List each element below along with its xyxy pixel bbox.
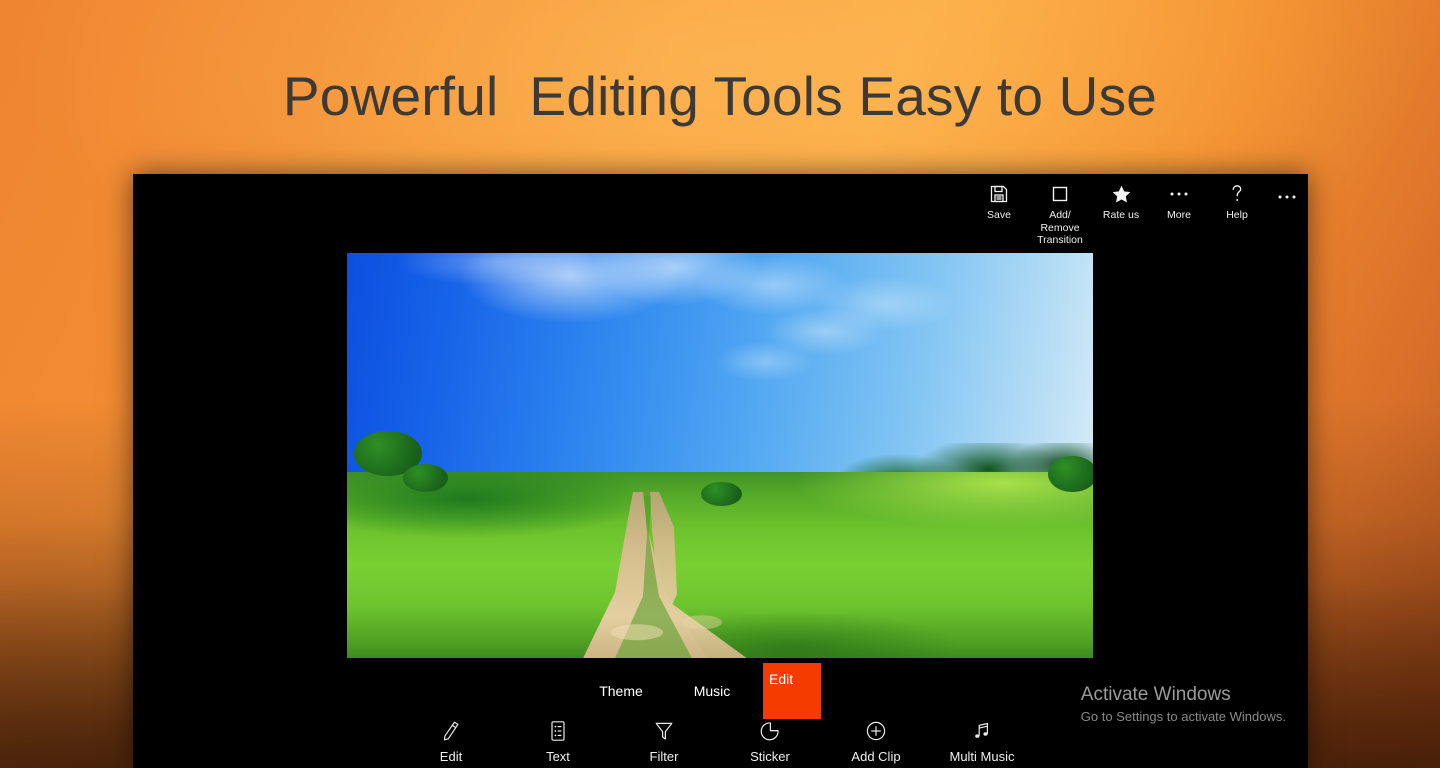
question-mark-icon <box>1227 182 1247 206</box>
plus-circle-icon <box>864 717 888 745</box>
ellipsis-icon <box>1276 188 1298 206</box>
preview-bush <box>403 464 448 492</box>
activate-windows-title: Activate Windows <box>1081 683 1286 707</box>
add-remove-transition-label: Add/ Remove Transition <box>1037 209 1083 247</box>
save-button[interactable]: Save <box>970 182 1028 222</box>
app-window: Save Add/ Remove Transition Rate us <box>133 174 1308 768</box>
more-button[interactable]: More <box>1150 182 1208 222</box>
page-title: Powerful Editing Tools Easy to Use <box>0 64 1440 128</box>
more-label: More <box>1167 209 1191 222</box>
overflow-menu-button[interactable] <box>1266 182 1308 206</box>
tool-add-clip[interactable]: Add Clip <box>833 717 919 764</box>
star-icon <box>1111 182 1132 206</box>
tool-add-clip-label: Add Clip <box>851 749 900 764</box>
ellipsis-icon <box>1168 182 1190 206</box>
tool-text-label: Text <box>546 749 570 764</box>
tool-edit[interactable]: Edit <box>408 717 494 764</box>
add-remove-transition-button[interactable]: Add/ Remove Transition <box>1028 182 1092 247</box>
tool-sticker[interactable]: Sticker <box>727 717 813 764</box>
tool-sticker-label: Sticker <box>750 749 790 764</box>
tab-music-label: Music <box>694 683 731 699</box>
text-document-icon <box>546 717 570 745</box>
tool-multi-music[interactable]: Multi Music <box>939 717 1025 764</box>
tool-filter-label: Filter <box>650 749 679 764</box>
tool-edit-label: Edit <box>440 749 462 764</box>
video-preview[interactable] <box>347 253 1093 658</box>
tab-theme-label: Theme <box>599 683 643 699</box>
funnel-icon <box>652 717 676 745</box>
help-button[interactable]: Help <box>1208 182 1266 222</box>
sticker-peel-icon <box>758 717 782 745</box>
command-bar: Save Add/ Remove Transition Rate us <box>133 174 1308 248</box>
tab-edit-label: Edit <box>769 671 793 687</box>
rate-us-button[interactable]: Rate us <box>1092 182 1150 222</box>
tool-multi-music-label: Multi Music <box>949 749 1014 764</box>
tool-text[interactable]: Text <box>515 717 601 764</box>
activate-windows-subtitle: Go to Settings to activate Windows. <box>1081 708 1286 726</box>
preview-bush <box>1048 456 1093 492</box>
pencil-icon <box>439 717 463 745</box>
save-label: Save <box>987 209 1011 222</box>
activate-windows-watermark: Activate Windows Go to Settings to activ… <box>1081 683 1286 726</box>
save-floppy-icon <box>989 182 1009 206</box>
music-notes-icon <box>970 717 994 745</box>
tool-filter[interactable]: Filter <box>621 717 707 764</box>
rate-us-label: Rate us <box>1103 209 1139 222</box>
help-label: Help <box>1226 209 1248 222</box>
square-outline-icon <box>1050 182 1070 206</box>
